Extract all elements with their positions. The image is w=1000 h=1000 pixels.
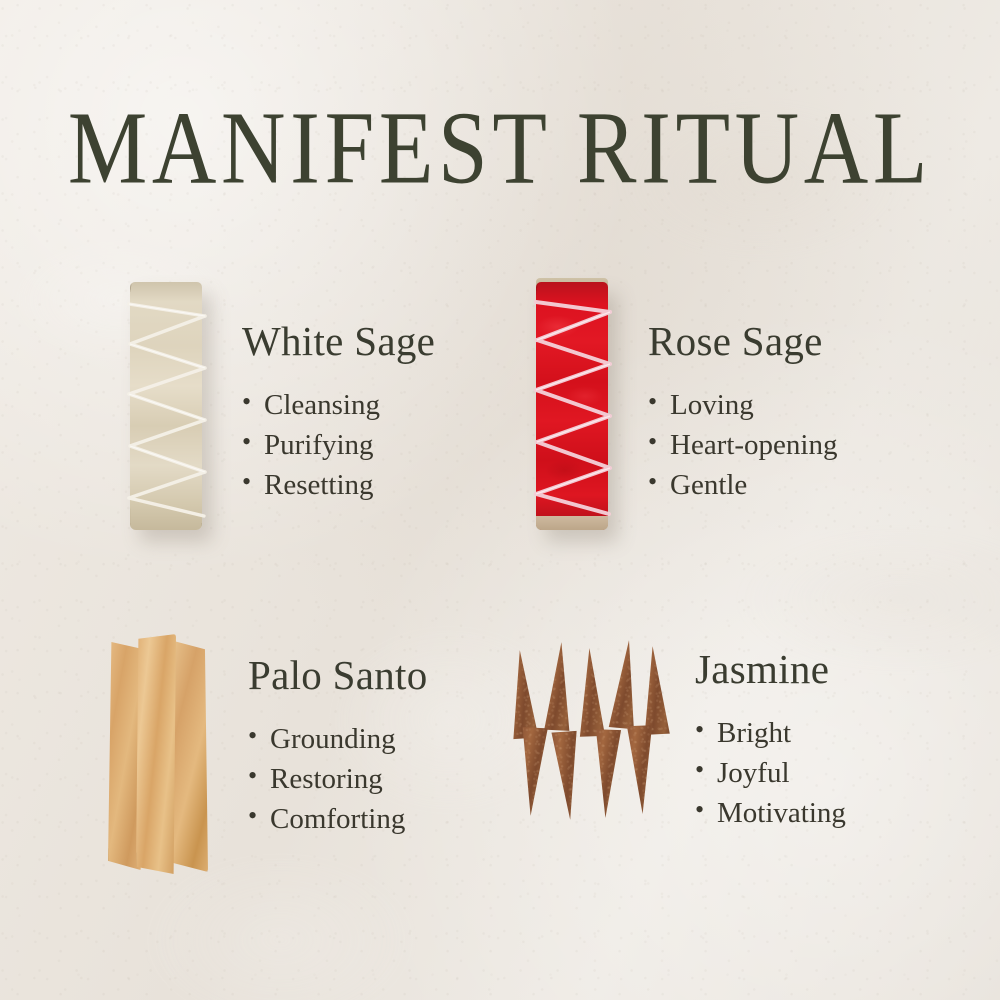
trait-item: Bright	[695, 713, 846, 753]
white-sage-bundle-image	[104, 276, 224, 538]
incense-cone	[624, 722, 657, 815]
palo-santo-copy: Palo Santo Grounding Restoring Comfortin…	[230, 628, 428, 839]
product-name: Jasmine	[695, 648, 846, 691]
incense-cone	[590, 726, 623, 819]
incense-cone	[549, 727, 585, 821]
product-name: Rose Sage	[648, 320, 838, 363]
product-card-rose-sage: Rose Sage Loving Heart-opening Gentle	[510, 276, 838, 538]
product-grid: White Sage Cleansing Purifying Resetting	[0, 258, 1000, 938]
sage-straw-bottom	[536, 516, 608, 530]
palo-stick	[170, 640, 208, 872]
palo-stick	[136, 634, 176, 874]
rose-sage-copy: Rose Sage Loving Heart-opening Gentle	[630, 276, 838, 505]
trait-item: Motivating	[695, 793, 846, 833]
trait-list: Bright Joyful Motivating	[695, 713, 846, 833]
trait-item: Joyful	[695, 753, 846, 793]
trait-item: Gentle	[648, 465, 838, 505]
trait-list: Cleansing Purifying Resetting	[242, 385, 435, 505]
jasmine-incense-cones-image	[500, 628, 675, 828]
incense-cone	[542, 641, 577, 734]
product-card-palo-santo: Palo Santo Grounding Restoring Comfortin…	[100, 628, 428, 878]
jasmine-copy: Jasmine Bright Joyful Motivating	[675, 628, 846, 833]
trait-item: Loving	[648, 385, 838, 425]
product-card-jasmine: Jasmine Bright Joyful Motivating	[500, 628, 846, 833]
trait-item: Grounding	[248, 719, 428, 759]
incense-cone	[574, 648, 607, 741]
wood-grain	[170, 640, 208, 872]
trait-item: Restoring	[248, 759, 428, 799]
trait-item: Comforting	[248, 799, 428, 839]
trait-item: Heart-opening	[648, 425, 838, 465]
palo-santo-sticks-image	[100, 628, 230, 878]
product-card-white-sage: White Sage Cleansing Purifying Resetting	[104, 276, 435, 538]
trait-item: Cleansing	[242, 385, 435, 425]
trait-list: Grounding Restoring Comforting	[248, 719, 428, 839]
wood-grain	[136, 634, 176, 874]
product-name: Palo Santo	[248, 654, 428, 697]
sage-bundle-body	[130, 282, 202, 530]
rose-sage-bundle-image	[510, 276, 630, 538]
incense-cone	[606, 639, 644, 733]
manifest-ritual-poster: MANIFEST RITUAL	[0, 0, 1000, 1000]
incense-cone	[638, 645, 673, 738]
trait-item: Resetting	[242, 465, 435, 505]
trait-list: Loving Heart-opening Gentle	[648, 385, 838, 505]
white-sage-copy: White Sage Cleansing Purifying Resetting	[224, 276, 435, 505]
trait-item: Purifying	[242, 425, 435, 465]
product-name: White Sage	[242, 320, 435, 363]
rose-sage-body	[536, 282, 608, 530]
page-title: MANIFEST RITUAL	[35, 96, 965, 200]
